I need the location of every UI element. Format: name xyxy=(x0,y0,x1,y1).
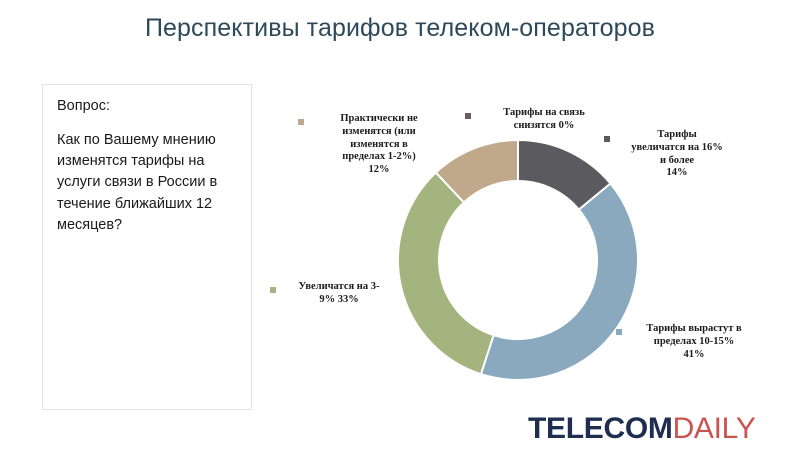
callout-percent: 41% xyxy=(634,349,754,362)
telecom-daily-logo: TELECOMDAILY xyxy=(528,412,756,446)
callout-line-1: Увеличатся на 3- xyxy=(288,281,390,294)
callout-line-4: пределах 1-2%) xyxy=(320,151,438,164)
callout-increase-10-15: Тарифы вырастут в пределах 10-15% 41% xyxy=(634,323,754,361)
callout-line-2: снизятся 0% xyxy=(485,120,603,133)
callout-line-3: изменятся в xyxy=(320,139,438,152)
legend-marker-increase-10-15 xyxy=(616,329,622,335)
donut-slice xyxy=(398,173,494,375)
question-text: Как по Вашему мнению изменятся тарифы на… xyxy=(57,130,237,237)
donut-slice xyxy=(481,184,638,380)
legend-marker-no-change xyxy=(298,119,304,125)
callout-increase-3-9: Увеличатся на 3- 9% 33% xyxy=(288,281,390,307)
callout-increase-16-plus: Тарифы увеличатся на 16% и более 14% xyxy=(622,129,732,180)
legend-marker-decrease xyxy=(465,113,471,119)
callout-line-1: Тарифы на связь xyxy=(485,107,603,120)
callout-line-3: и более xyxy=(622,155,732,168)
question-label: Вопрос: xyxy=(57,97,237,117)
legend-marker-increase-16-plus xyxy=(604,136,610,142)
page-title: Перспективы тарифов телеком-операторов xyxy=(0,14,800,43)
callout-decrease: Тарифы на связь снизятся 0% xyxy=(485,107,603,133)
logo-daily-text: DAILY xyxy=(673,412,756,445)
donut-chart: Практически не изменятся (или изменятся … xyxy=(262,96,792,396)
callout-line-1: Практически не xyxy=(320,113,438,126)
callout-percent: 14% xyxy=(622,167,732,180)
callout-line-2: увеличатся на 16% xyxy=(622,142,732,155)
callout-line-1: Тарифы xyxy=(622,129,732,142)
callout-line-1: Тарифы вырастут в xyxy=(634,323,754,336)
callout-line-2: пределах 10-15% xyxy=(634,336,754,349)
question-box: Вопрос: Как по Вашему мнению изменятся т… xyxy=(42,84,252,410)
callout-line-2: изменятся (или xyxy=(320,126,438,139)
legend-marker-increase-3-9 xyxy=(270,287,276,293)
callout-percent: 12% xyxy=(320,164,438,177)
callout-no-change: Практически не изменятся (или изменятся … xyxy=(320,113,438,177)
logo-telecom-text: TELECOM xyxy=(528,412,673,445)
callout-line-2: 9% 33% xyxy=(288,294,390,307)
